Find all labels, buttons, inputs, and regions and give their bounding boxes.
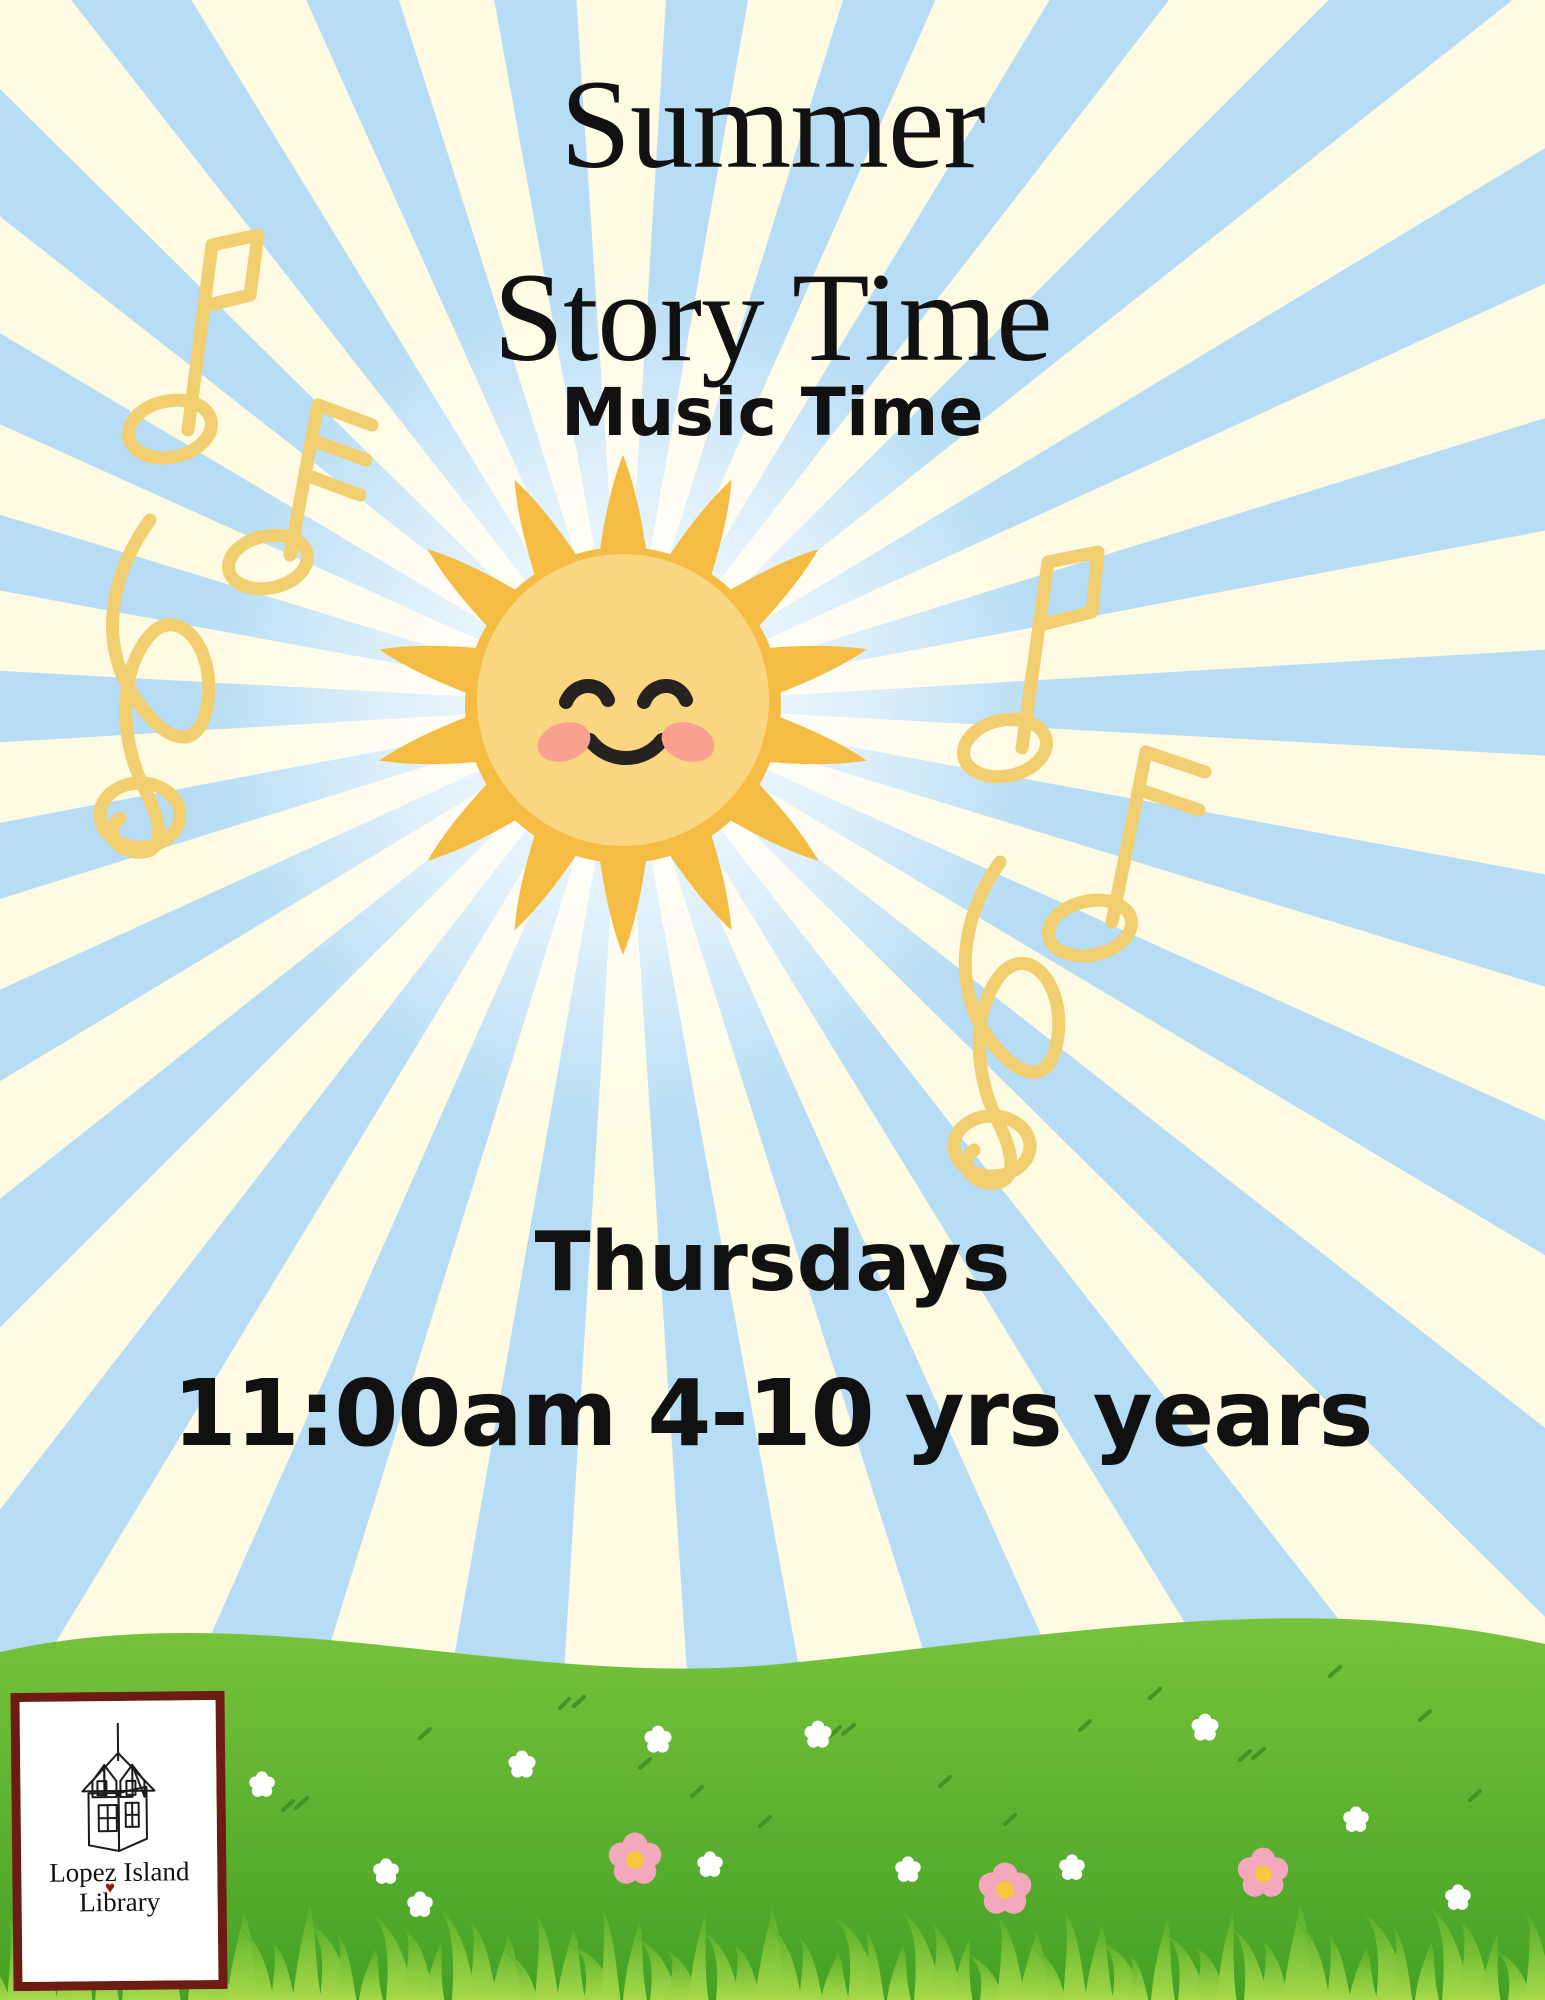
library-logo-text: Lopez Island ♥ Library: [49, 1856, 190, 1918]
poster-subtitle: Music Time: [0, 380, 1545, 446]
library-building-icon: [58, 1718, 179, 1855]
heart-icon: ♥: [105, 1879, 115, 1896]
grass-ground: [0, 1580, 1545, 2000]
poster-canvas: Summer Story Time Music Time Thursdays 1…: [0, 0, 1545, 2000]
library-name-line-1: Lopez Island: [49, 1856, 190, 1888]
event-time-and-ages: 11:00am 4-10 yrs years: [0, 1368, 1545, 1460]
page-title-line-2: Story Time: [0, 255, 1545, 382]
page-title-line-1: Summer: [0, 62, 1545, 189]
library-logo: Lopez Island ♥ Library: [10, 1691, 227, 1991]
smiling-sun-icon: [368, 450, 878, 960]
event-day: Thursdays: [0, 1222, 1545, 1304]
library-name-line-2: Library: [79, 1887, 160, 1918]
